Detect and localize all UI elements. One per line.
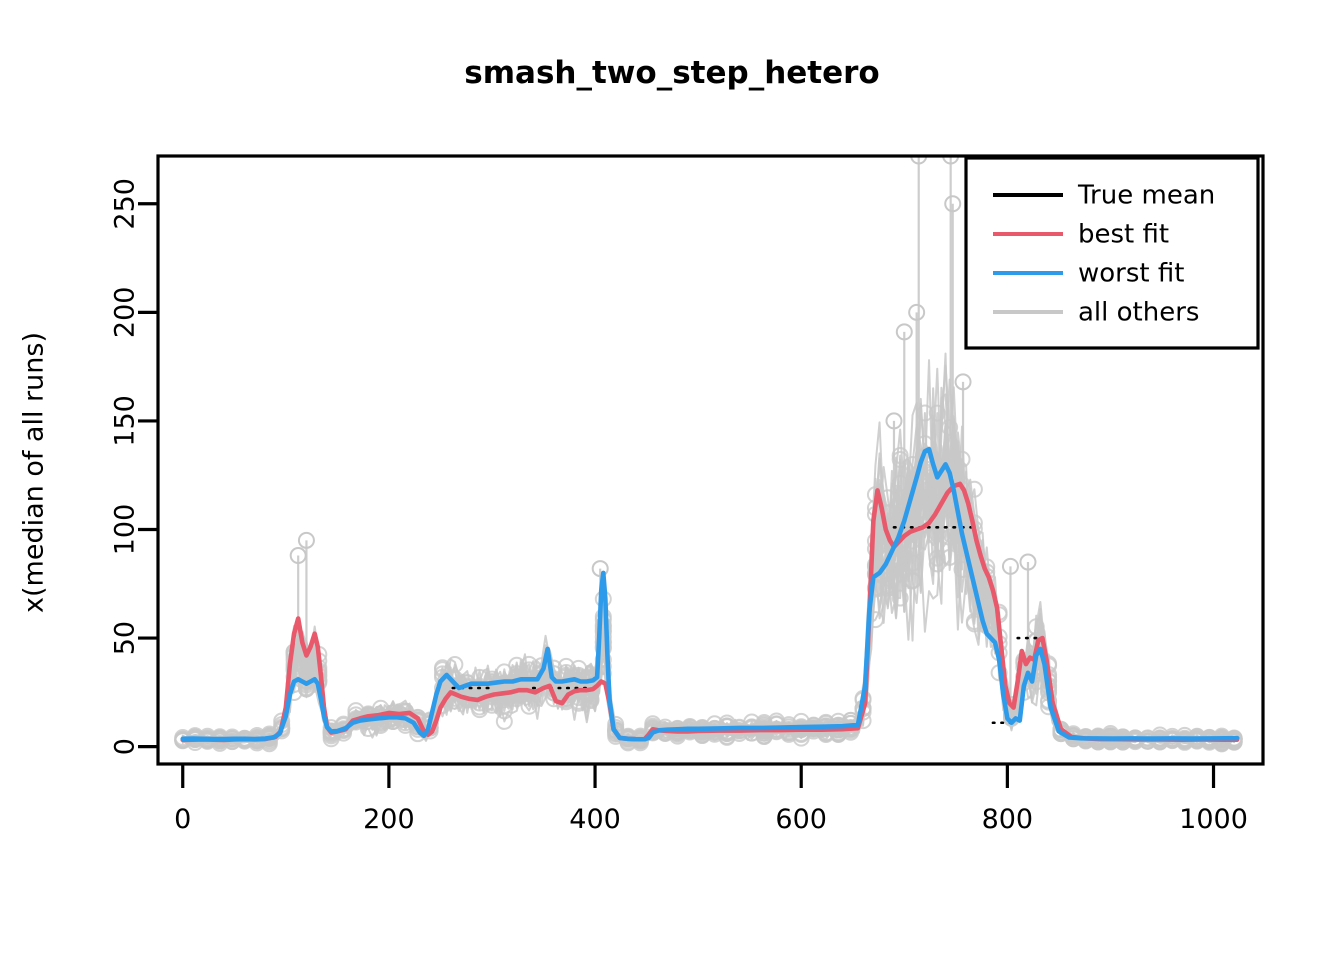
y-axis: 050100150200250: [109, 178, 158, 755]
legend-label-all-others: all others: [1078, 298, 1199, 328]
fit-lines: [183, 449, 1237, 740]
plot-area: 050100150200250 02004006008001000 True m…: [0, 0, 1344, 960]
chart-figure: smash_two_step_hetero x(median of all ru…: [0, 0, 1344, 960]
svg-text:200: 200: [110, 287, 141, 339]
svg-text:400: 400: [569, 804, 621, 835]
svg-text:600: 600: [775, 804, 827, 835]
svg-text:0: 0: [110, 738, 141, 755]
svg-text:0: 0: [174, 804, 191, 835]
svg-text:200: 200: [363, 804, 415, 835]
svg-text:100: 100: [109, 504, 140, 556]
x-axis: 02004006008001000: [174, 764, 1248, 835]
legend[interactable]: True meanbest fitworst fitall others: [966, 158, 1258, 348]
legend-label-worst-fit: worst fit: [1078, 259, 1184, 289]
svg-text:800: 800: [982, 804, 1034, 835]
svg-text:150: 150: [110, 395, 141, 447]
svg-text:1000: 1000: [1179, 804, 1248, 835]
legend-label-best-fit: best fit: [1078, 220, 1169, 250]
svg-text:250: 250: [109, 178, 140, 230]
svg-text:50: 50: [109, 621, 140, 655]
legend-label-true-mean: True mean: [1077, 181, 1215, 211]
